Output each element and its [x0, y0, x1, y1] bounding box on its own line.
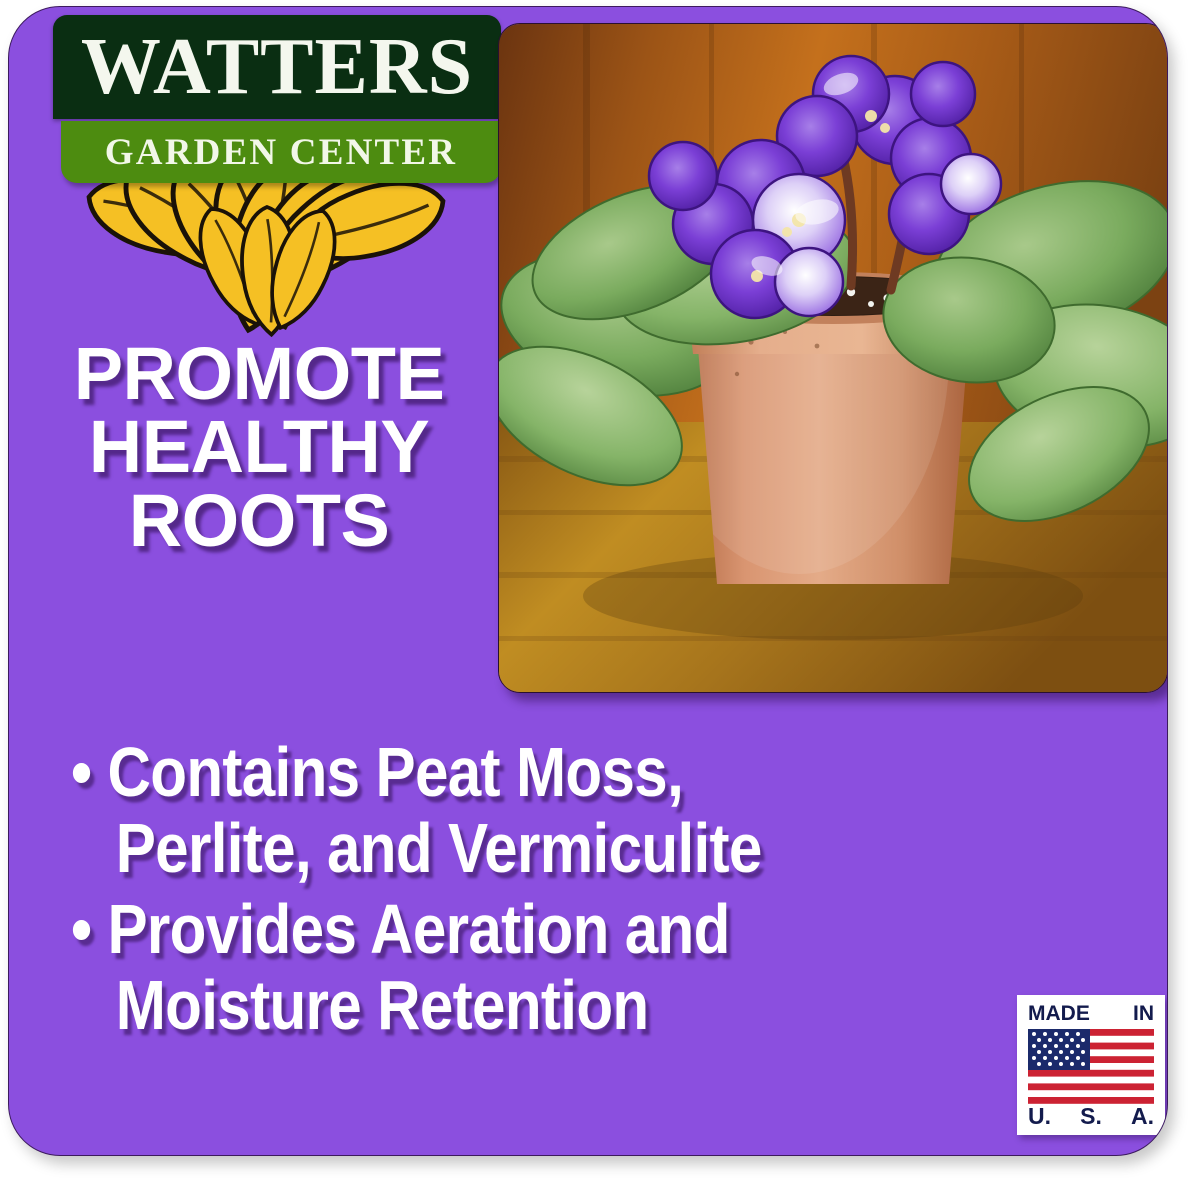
headline-line-1: PROMOTE [19, 337, 499, 410]
african-violet-photo [498, 23, 1168, 693]
headline-line-2: HEALTHY [19, 410, 499, 483]
logo-subtitle-text: GARDEN CENTER [105, 134, 457, 171]
badge-u-text: U. [1028, 1103, 1051, 1130]
bullet-2-line-1: • Provides Aeration and [71, 892, 897, 968]
headline-line-3: ROOTS [19, 484, 499, 557]
badge-top-label: MADE IN [1028, 1002, 1154, 1026]
page-title: PROMOTE HEALTHY ROOTS [19, 337, 499, 557]
bullet-1-text-2: Perlite, and Vermiculite [71, 811, 897, 887]
badge-in-text: IN [1133, 1002, 1154, 1026]
badge-a-text: A. [1131, 1103, 1154, 1130]
promotional-poster: WATTERS GARDEN CENTER PROMOTE HEALTHY RO… [8, 6, 1168, 1156]
badge-bottom-label: U. S. A. [1028, 1103, 1154, 1130]
usa-flag-icon [1028, 1029, 1154, 1107]
made-in-usa-badge: MADE IN [1017, 995, 1165, 1135]
feature-list: • Contains Peat Moss, Perlite, and Vermi… [71, 735, 1031, 1049]
bullet-1-line-1: • Contains Peat Moss, [71, 735, 897, 811]
badge-made-text: MADE [1028, 1002, 1090, 1026]
list-item: • Contains Peat Moss, Perlite, and Vermi… [71, 735, 897, 886]
bullet-marker: • [71, 733, 91, 811]
bullet-2-text-1: Provides Aeration and [107, 890, 729, 968]
list-item: • Provides Aeration and Moisture Retenti… [71, 892, 897, 1043]
badge-s-text: S. [1080, 1103, 1102, 1130]
logo-brand-bar: WATTERS [53, 15, 501, 119]
bullet-1-text-1: Contains Peat Moss, [107, 733, 683, 811]
logo-brand-text: WATTERS [81, 27, 473, 107]
logo-subtitle-bar: GARDEN CENTER [61, 121, 501, 183]
watters-garden-center-logo: WATTERS GARDEN CENTER [53, 15, 501, 197]
bullet-2-text-2: Moisture Retention [71, 968, 897, 1044]
bullet-marker: • [71, 890, 91, 968]
